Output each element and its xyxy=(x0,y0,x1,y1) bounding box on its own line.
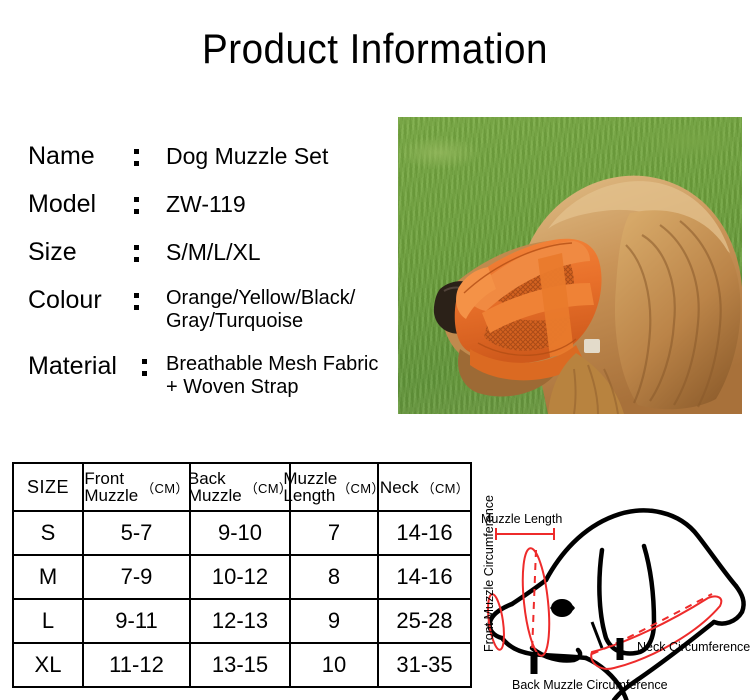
table-header-size: SIZE xyxy=(13,463,83,511)
header-size-label: SIZE xyxy=(27,477,69,498)
spec-label-name: Name xyxy=(28,142,95,170)
table-row: M 7-9 10-12 8 14-16 xyxy=(13,555,471,599)
table-row: L 9-11 12-13 9 25-28 xyxy=(13,599,471,643)
dog-eye-icon xyxy=(550,599,575,617)
spec-value-model: ZW-119 xyxy=(166,190,246,218)
table-header-neck: Neck （CM） xyxy=(378,463,471,511)
cell-neck: 14-16 xyxy=(378,511,471,555)
cell-back-muzzle: 12-13 xyxy=(190,599,290,643)
spec-row-model: Model ZW-119 xyxy=(28,190,408,234)
spec-value-colour-line1: Orange/Yellow/Black/ xyxy=(166,287,416,310)
table-header-row: SIZE Front Muzzle （CM） Back Muzzle xyxy=(13,463,471,511)
cell-front-muzzle: 9-11 xyxy=(83,599,190,643)
back-muzzle-dashed-line xyxy=(532,550,536,652)
header-back-line2: Muzzle xyxy=(188,487,242,504)
spec-label-colour: Colour xyxy=(28,286,102,314)
cell-front-muzzle: 5-7 xyxy=(83,511,190,555)
cell-muzzle-length: 8 xyxy=(290,555,378,599)
cell-front-muzzle: 11-12 xyxy=(83,643,190,687)
spec-row-size: Size S/M/L/XL xyxy=(28,238,408,282)
colon-separator-icon xyxy=(130,286,144,314)
spec-label-size: Size xyxy=(28,238,77,266)
cell-muzzle-length: 7 xyxy=(290,511,378,555)
colon-separator-icon xyxy=(130,142,144,170)
header-front-unit: （CM） xyxy=(141,478,188,497)
page-title: Product Information xyxy=(30,28,720,70)
spec-row-name: Name Dog Muzzle Set xyxy=(28,142,408,186)
cell-size: XL xyxy=(13,643,83,687)
measurement-diagram: Muzzle Length Front Muzzle Circumference… xyxy=(474,462,750,700)
cell-muzzle-length: 10 xyxy=(290,643,378,687)
table-row: XL 11-12 13-15 10 31-35 xyxy=(13,643,471,687)
colon-separator-icon xyxy=(130,190,144,218)
size-chart-table: SIZE Front Muzzle （CM） Back Muzzle xyxy=(12,462,472,688)
dog-with-muzzle-illustration xyxy=(398,117,742,414)
spec-value-colour-line2: Gray/Turquoise xyxy=(166,310,416,333)
dog-head-outline xyxy=(490,510,744,700)
label-neck-circumference: Neck Circumference xyxy=(637,640,750,654)
label-front-muzzle-circumference: Front Muzzle Circumference xyxy=(482,502,496,652)
header-mlen-unit: （CM） xyxy=(337,478,384,497)
cell-front-muzzle: 7-9 xyxy=(83,555,190,599)
colon-separator-icon xyxy=(130,238,144,266)
header-neck-label: Neck xyxy=(380,479,419,496)
header-back-line1: Back xyxy=(188,470,242,487)
cell-size: S xyxy=(13,511,83,555)
spec-label-material: Material xyxy=(28,352,117,380)
cell-neck: 25-28 xyxy=(378,599,471,643)
table-header-front-muzzle: Front Muzzle （CM） xyxy=(83,463,190,511)
cell-back-muzzle: 9-10 xyxy=(190,511,290,555)
cell-back-muzzle: 10-12 xyxy=(190,555,290,599)
table-row: S 5-7 9-10 7 14-16 xyxy=(13,511,471,555)
product-photo xyxy=(398,117,742,414)
table-header-muzzle-length: Muzzle Length （CM） xyxy=(290,463,378,511)
header-mlen-line1: Muzzle xyxy=(283,470,337,487)
spec-row-colour: Colour Orange/Yellow/Black/ Gray/Turquoi… xyxy=(28,286,408,330)
cell-size: L xyxy=(13,599,83,643)
label-back-muzzle-circumference: Back Muzzle Circumference xyxy=(512,678,668,692)
spec-label-model: Model xyxy=(28,190,96,218)
header-mlen-line2: Length xyxy=(283,487,337,504)
spec-value-material-line2: + Woven Strap xyxy=(166,376,416,399)
spec-row-material: Material Breathable Mesh Fabric + Woven … xyxy=(28,352,408,396)
spec-value-name: Dog Muzzle Set xyxy=(166,142,328,170)
table-header-back-muzzle: Back Muzzle （CM） xyxy=(190,463,290,511)
header-front-line1: Front xyxy=(84,470,138,487)
cell-size: M xyxy=(13,555,83,599)
spec-value-material-line1: Breathable Mesh Fabric xyxy=(166,353,416,376)
colon-separator-icon xyxy=(138,352,152,380)
cell-muzzle-length: 9 xyxy=(290,599,378,643)
spec-value-size: S/M/L/XL xyxy=(166,238,261,266)
header-neck-unit: （CM） xyxy=(422,478,469,497)
header-front-line2: Muzzle xyxy=(84,487,138,504)
leader-hook xyxy=(592,622,602,648)
cell-neck: 31-35 xyxy=(378,643,471,687)
cell-neck: 14-16 xyxy=(378,555,471,599)
spec-value-material: Breathable Mesh Fabric + Woven Strap xyxy=(166,353,416,399)
cell-back-muzzle: 13-15 xyxy=(190,643,290,687)
dog-head-outline-diagram xyxy=(474,462,750,700)
spec-value-colour: Orange/Yellow/Black/ Gray/Turquoise xyxy=(166,287,416,333)
